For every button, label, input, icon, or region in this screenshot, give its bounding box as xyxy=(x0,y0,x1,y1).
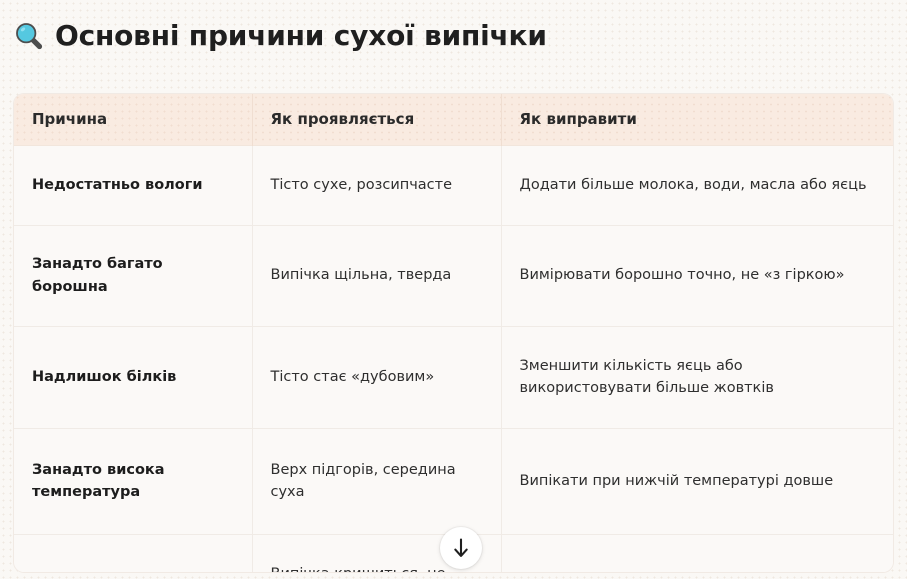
magnifying-glass-icon xyxy=(14,21,44,51)
causes-table-container: Причина Як проявляється Як виправити Нед… xyxy=(14,94,893,572)
cell-fix: Додати більше молока, води, масла або яє… xyxy=(501,145,893,225)
cell-symptom: Тісто стає «дубовим» xyxy=(252,326,501,428)
cell-cause: Надлишок білків xyxy=(14,326,252,428)
cell-symptom: Випічка щільна, тверда xyxy=(252,225,501,326)
cell-fix: Додати вершкове масло, олію або сметану xyxy=(501,534,893,572)
cell-cause: Нестача жиру xyxy=(14,534,252,572)
cell-cause: Занадто висока температура xyxy=(14,428,252,534)
page-title: Основні причини сухої випічки xyxy=(55,21,547,52)
cell-fix: Випікати при нижчій температурі довше xyxy=(501,428,893,534)
table-body: Недостатньо вологи Тісто сухе, розсипчас… xyxy=(14,145,893,572)
cell-symptom: Верх підгорів, середина суха xyxy=(252,428,501,534)
page-header: Основні причини сухої випічки xyxy=(14,14,547,58)
table-row: Занадто багато борошна Випічка щільна, т… xyxy=(14,225,893,326)
arrow-down-icon xyxy=(451,537,471,559)
column-header-cause: Причина xyxy=(14,94,252,145)
column-header-symptom: Як проявляється xyxy=(252,94,501,145)
cell-cause: Занадто багато борошна xyxy=(14,225,252,326)
cell-cause: Недостатньо вологи xyxy=(14,145,252,225)
column-header-fix: Як виправити xyxy=(501,94,893,145)
causes-table: Причина Як проявляється Як виправити Нед… xyxy=(14,94,893,572)
scroll-down-button[interactable] xyxy=(440,527,482,569)
cell-symptom: Тісто сухе, розсипчасте xyxy=(252,145,501,225)
table-header: Причина Як проявляється Як виправити xyxy=(14,94,893,145)
page-root: Основні причини сухої випічки Причина Як… xyxy=(0,0,907,579)
table-row: Недостатньо вологи Тісто сухе, розсипчас… xyxy=(14,145,893,225)
cell-fix: Вимірювати борошно точно, не «з гіркою» xyxy=(501,225,893,326)
table-header-row: Причина Як проявляється Як виправити xyxy=(14,94,893,145)
table-row: Занадто висока температура Верх підгорів… xyxy=(14,428,893,534)
table-row: Надлишок білків Тісто стає «дубовим» Зме… xyxy=(14,326,893,428)
cell-fix: Зменшити кількість яєць або використовув… xyxy=(501,326,893,428)
